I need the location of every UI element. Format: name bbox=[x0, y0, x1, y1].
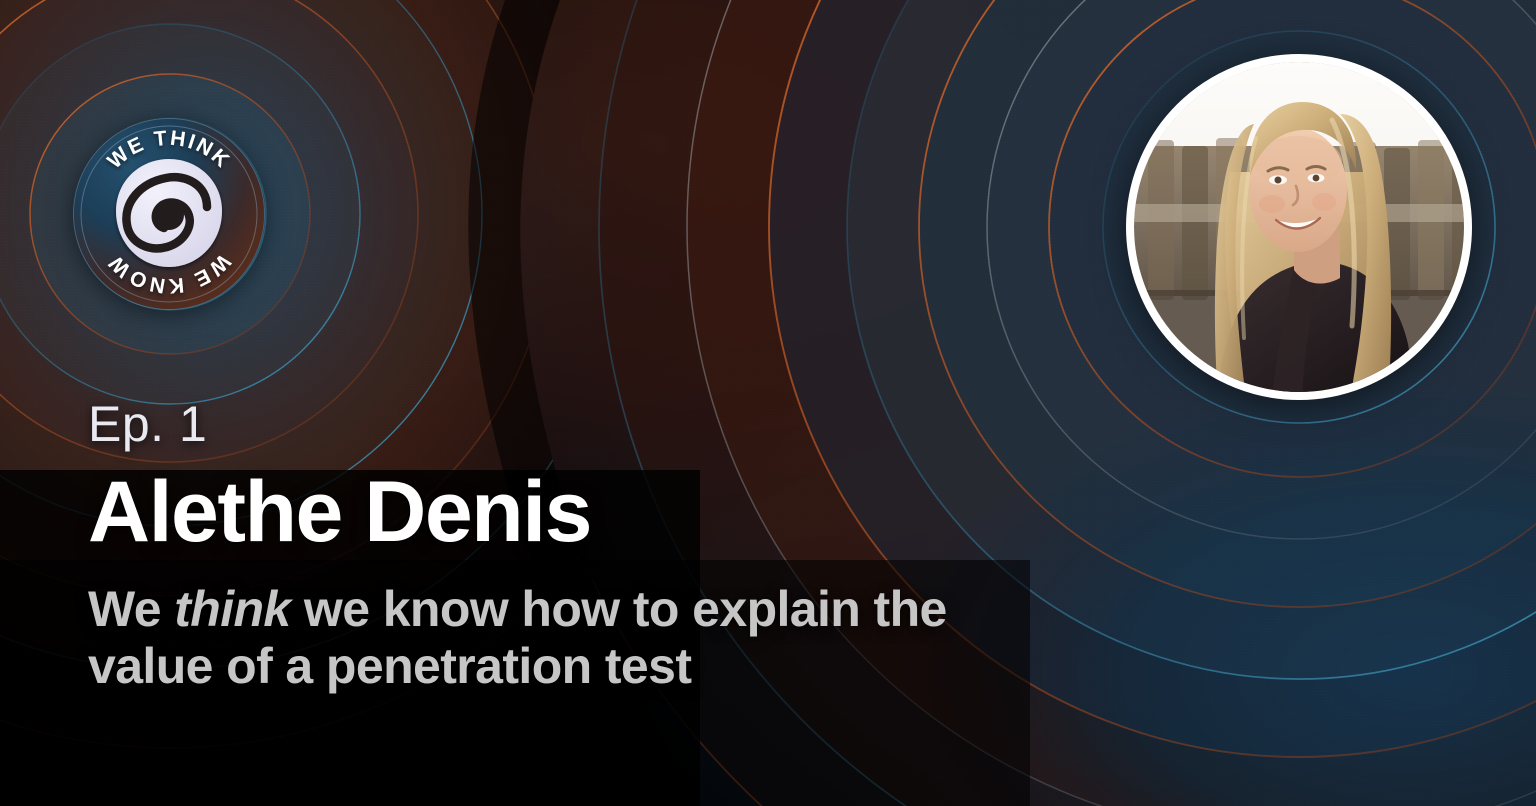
episode-title-emphasis: think bbox=[174, 581, 290, 637]
episode-number-label: Ep. 1 bbox=[88, 398, 1048, 451]
guest-name-heading: Alethe Denis bbox=[88, 469, 1048, 555]
guest-portrait[interactable] bbox=[1126, 54, 1472, 400]
episode-title-prefix: We bbox=[88, 581, 174, 637]
we-think-we-know-badge[interactable]: WE THINK WE KNOW bbox=[74, 119, 264, 309]
episode-banner: WE THINK WE KNOW bbox=[0, 0, 1536, 806]
episode-title: We think we know how to explain the valu… bbox=[88, 581, 1018, 695]
episode-text-block: Ep. 1 Alethe Denis We think we know how … bbox=[88, 398, 1048, 695]
eye-spiral-icon bbox=[116, 159, 222, 267]
